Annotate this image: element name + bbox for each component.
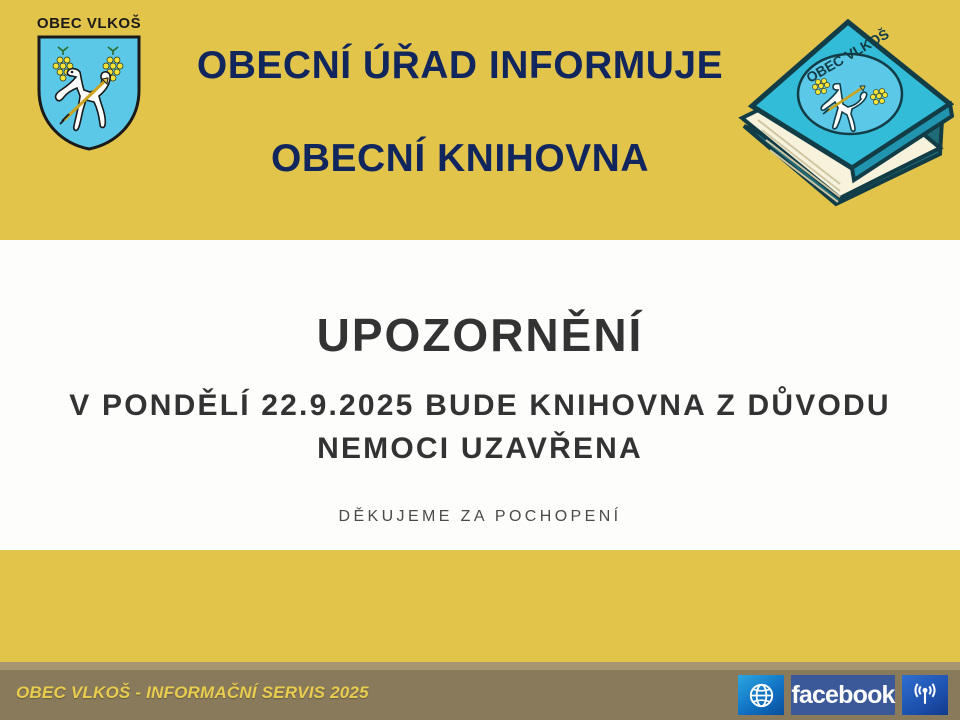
notice-thanks: DĚKUJEME ZA POCHOPENÍ [0, 508, 960, 526]
footer-band [0, 550, 960, 662]
header-title-secondary: OBECNÍ KNIHOVNA [150, 137, 770, 182]
facebook-icon[interactable]: facebook [791, 675, 895, 715]
broadcast-glyph [911, 681, 939, 709]
crest-label: OBEC VLKOŠ [31, 16, 147, 31]
footer-credit: OBEC VLKOŠ - INFORMAČNÍ SERVIS 2025 [16, 683, 369, 703]
notice-heading: UPOZORNĚNÍ [0, 308, 960, 362]
municipal-crest: OBEC VLKOŠ [31, 16, 147, 161]
notice-body-line2: NEMOCI UZAVŘENA [317, 432, 643, 465]
notice-body-line1: V PONDĚLÍ 22.9.2025 BUDE KNIHOVNA Z DŮVO… [69, 389, 890, 422]
header-titles: OBECNÍ ÚŘAD INFORMUJE OBECNÍ KNIHOVNA [150, 44, 770, 182]
footer-divider [0, 662, 960, 670]
book-illustration: OBEC VLKOŠ [728, 8, 960, 234]
globe-glyph [748, 682, 775, 709]
book-icon: OBEC VLKOŠ [728, 8, 960, 234]
footer-icon-group: facebook [738, 675, 948, 715]
notice-body: V PONDĚLÍ 22.9.2025 BUDE KNIHOVNA Z DŮVO… [40, 385, 920, 470]
coat-of-arms-icon [36, 34, 142, 152]
facebook-wordmark: facebook [791, 681, 894, 710]
header-title-primary: OBECNÍ ÚŘAD INFORMUJE [150, 44, 770, 89]
poster-canvas: OBEC VLKOŠ [0, 0, 960, 720]
globe-icon[interactable] [738, 675, 784, 715]
broadcast-icon[interactable] [902, 675, 948, 715]
